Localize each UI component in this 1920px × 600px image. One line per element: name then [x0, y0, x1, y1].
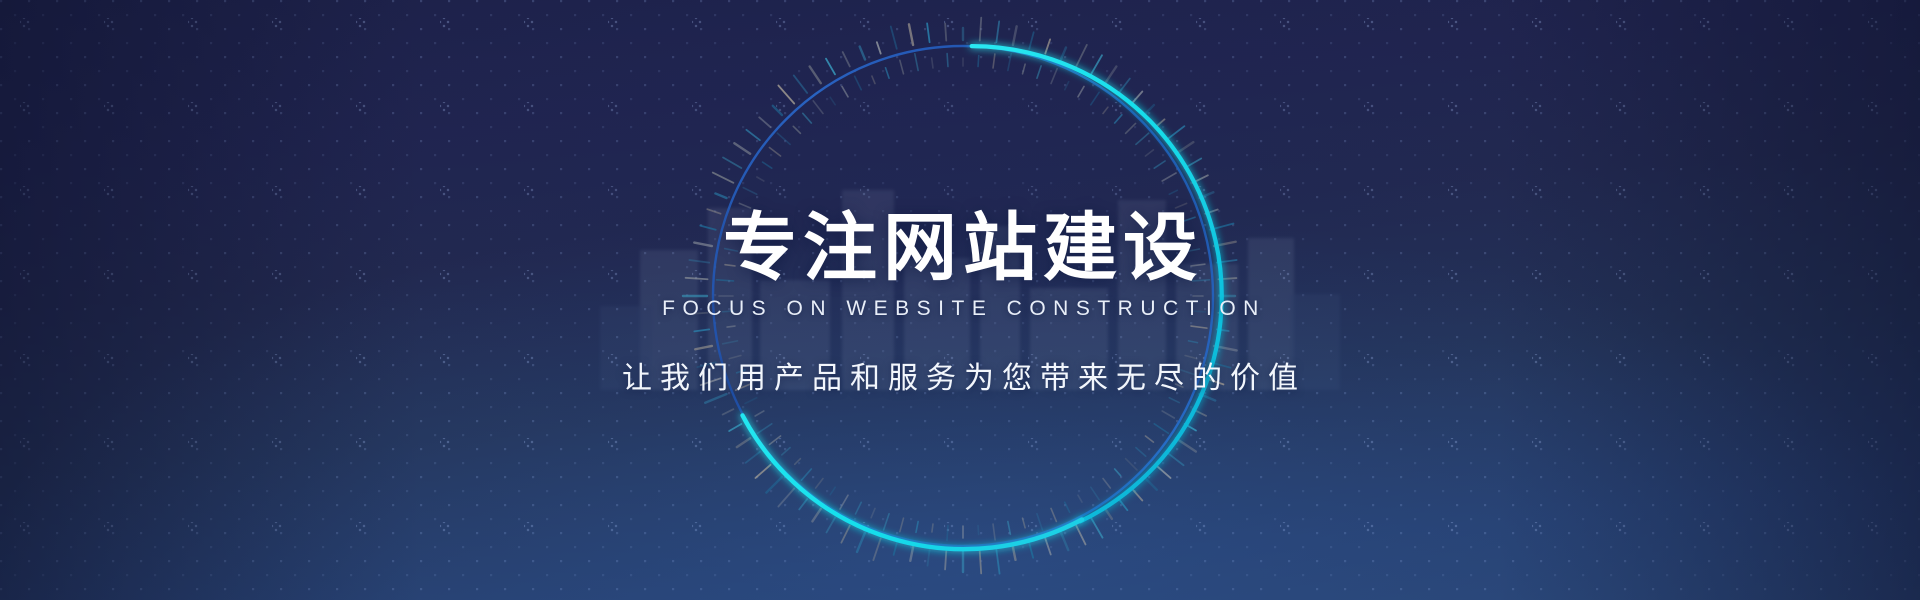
tagline: 让我们用产品和服务为您带来无尽的价值	[614, 353, 1306, 397]
page-title: 专注网站建设	[717, 211, 1203, 285]
hero-banner: 专注网站建设 FOCUS ON WEBSITE CONSTRUCTION 让我们…	[0, 0, 1920, 600]
subtitle-english: FOCUS ON WEBSITE CONSTRUCTION	[654, 297, 1266, 321]
banner-content: 专注网站建设 FOCUS ON WEBSITE CONSTRUCTION 让我们…	[0, 0, 1920, 600]
